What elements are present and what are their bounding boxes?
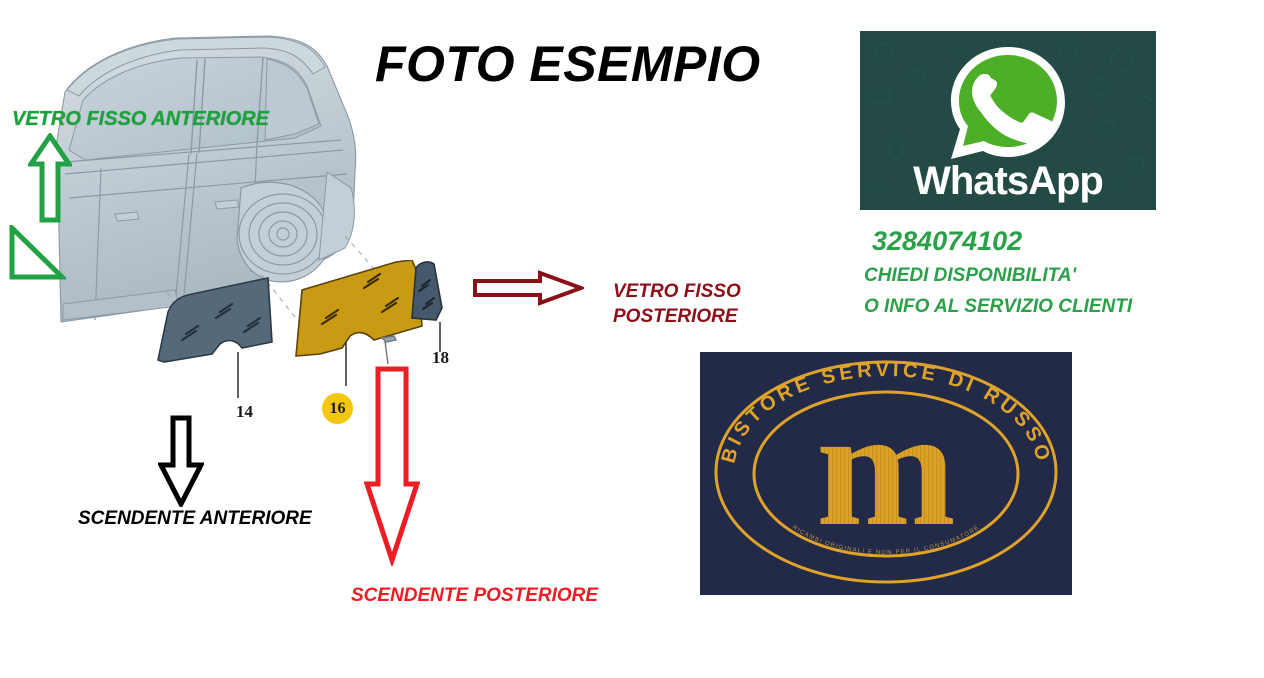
whatsapp-icon — [946, 41, 1070, 165]
part-18-shape — [412, 262, 442, 320]
phone-number[interactable]: 3284074102 — [872, 226, 1022, 257]
page-title: FOTO ESEMPIO — [375, 35, 805, 93]
arrow-up-icon — [28, 133, 72, 223]
part-number-14: 14 — [236, 402, 253, 422]
part-16-shape — [296, 260, 422, 356]
arrow-down-icon-red — [364, 366, 420, 566]
label-scendente-posteriore: SCENDENTE POSTERIORE — [351, 585, 598, 607]
poster-canvas: 14 18 17 16 FOTO ESEMPIO VETRO FISSO ANT… — [0, 0, 1264, 678]
label-vetro-fisso-posteriore-line1: VETRO FISSO — [613, 280, 741, 305]
arrow-right-icon — [472, 270, 584, 306]
part-14-shape — [158, 272, 272, 362]
part-17-shape — [382, 336, 396, 364]
exploded-glass-parts — [150, 260, 470, 410]
arrow-down-icon — [158, 415, 204, 507]
label-vetro-fisso-anteriore: VETRO FISSO ANTERIORE — [12, 108, 269, 131]
whatsapp-banner: WhatsApp — [860, 31, 1156, 210]
whatsapp-wordmark: WhatsApp — [860, 159, 1156, 204]
part-number-18: 18 — [432, 348, 449, 368]
triangle-outline-icon — [8, 225, 66, 281]
label-vetro-fisso-posteriore: VETRO FISSO POSTERIORE — [613, 280, 741, 329]
label-scendente-anteriore: SCENDENTE ANTERIORE — [78, 508, 312, 530]
label-vetro-fisso-posteriore-line2: POSTERIORE — [613, 305, 741, 330]
logo-monogram: m — [816, 375, 956, 561]
shop-logo-card: MRICAMBISTORE SERVICE DI RUSSO MARCO RIC… — [700, 352, 1072, 595]
part-number-16-badge: 16 — [322, 393, 353, 424]
contact-line-2: O INFO AL SERVIZIO CLIENTI — [864, 296, 1132, 318]
contact-line-1: CHIEDI DISPONIBILITA' — [864, 265, 1076, 287]
